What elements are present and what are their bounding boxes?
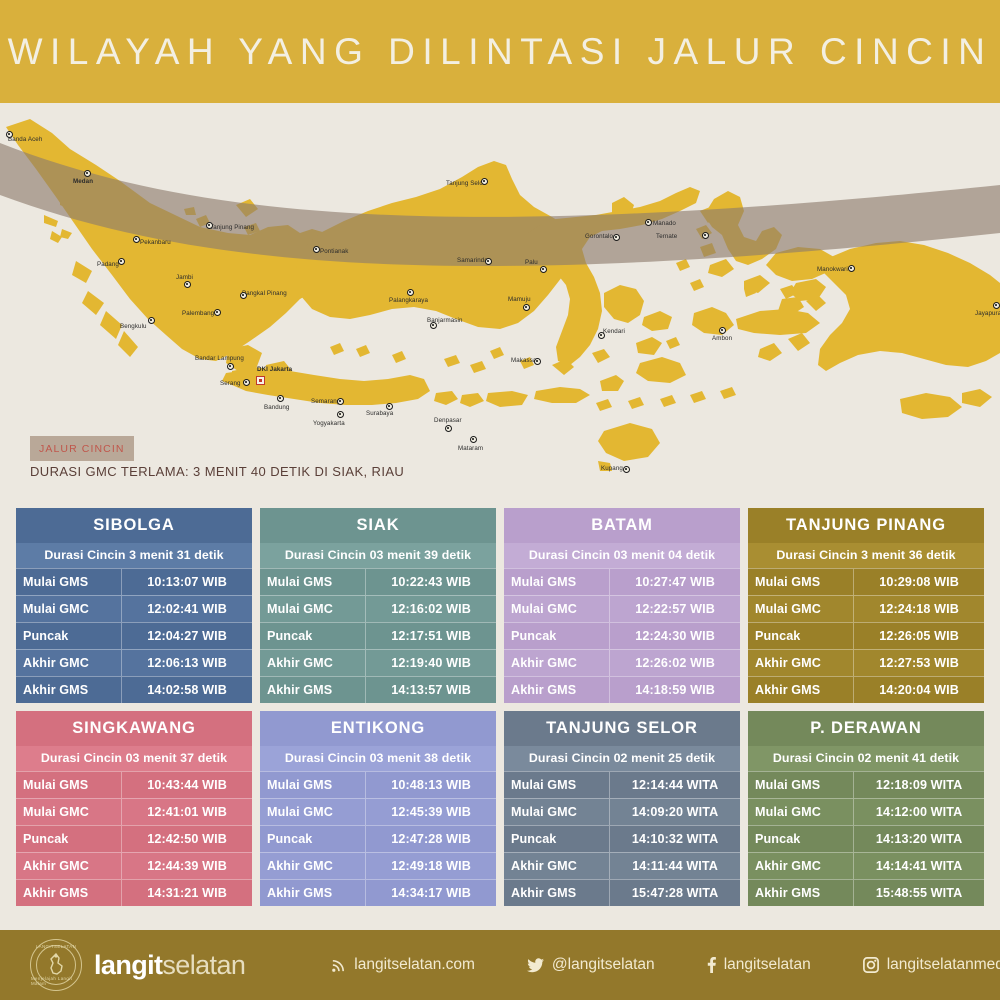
city-marker-icon bbox=[313, 246, 320, 253]
indonesia-map: Banda AcehMedanPekanbaruPadangJambiBengk… bbox=[0, 103, 1000, 493]
row-label: Akhir GMS bbox=[16, 880, 122, 906]
instagram-icon bbox=[863, 957, 879, 973]
table-row: Puncak12:47:28 WIB bbox=[260, 825, 496, 852]
row-label: Mulai GMC bbox=[748, 799, 854, 825]
city-marker-icon bbox=[240, 292, 247, 299]
brand-light: selatan bbox=[162, 950, 245, 980]
row-value: 12:22:57 WIB bbox=[610, 596, 740, 622]
city-marker-icon bbox=[277, 395, 284, 402]
table-row: Mulai GMC12:02:41 WIB bbox=[16, 595, 252, 622]
row-value: 12:26:05 WIB bbox=[854, 623, 984, 649]
table-row: Mulai GMC12:41:01 WIB bbox=[16, 798, 252, 825]
city-timing-card: SIAKDurasi Cincin 03 menit 39 detikMulai… bbox=[260, 508, 496, 703]
table-row: Mulai GMC14:09:20 WITA bbox=[504, 798, 740, 825]
table-row: Mulai GMC12:24:18 WIB bbox=[748, 595, 984, 622]
city-marker-icon bbox=[702, 232, 709, 239]
row-value: 14:34:17 WIB bbox=[366, 880, 496, 906]
city-marker-icon bbox=[534, 358, 541, 365]
row-label: Mulai GMC bbox=[504, 799, 610, 825]
row-label: Mulai GMS bbox=[260, 569, 366, 595]
row-label: Akhir GMS bbox=[260, 677, 366, 703]
city-label: Kupang bbox=[601, 465, 623, 472]
row-value: 10:22:43 WIB bbox=[366, 569, 496, 595]
table-row: Mulai GMS10:22:43 WIB bbox=[260, 568, 496, 595]
row-value: 12:47:28 WIB bbox=[366, 826, 496, 852]
row-value: 12:42:50 WIB bbox=[122, 826, 252, 852]
row-label: Mulai GMC bbox=[260, 799, 366, 825]
city-marker-icon bbox=[848, 265, 855, 272]
card-duration: Durasi Cincin 3 menit 36 detik bbox=[748, 543, 984, 568]
city-label: Padang bbox=[97, 261, 119, 268]
city-label: Pekanbaru bbox=[140, 239, 171, 246]
table-row: Akhir GMS15:48:55 WITA bbox=[748, 879, 984, 906]
table-row: Puncak14:13:20 WITA bbox=[748, 825, 984, 852]
table-row: Mulai GMC12:45:39 WIB bbox=[260, 798, 496, 825]
card-title: P. DERAWAN bbox=[748, 711, 984, 746]
city-marker-icon bbox=[430, 322, 437, 329]
city-label: Bengkulu bbox=[120, 323, 147, 330]
card-title: TANJUNG PINANG bbox=[748, 508, 984, 543]
row-label: Mulai GMS bbox=[16, 772, 122, 798]
social-link-rss[interactable]: langitselatan.com bbox=[331, 956, 475, 974]
row-value: 14:20:04 WIB bbox=[854, 677, 984, 703]
row-value: 12:06:13 WIB bbox=[122, 650, 252, 676]
social-label: @langitselatan bbox=[552, 956, 655, 974]
city-label: Denpasar bbox=[434, 417, 462, 424]
city-label: Bandar Lampung bbox=[195, 355, 244, 362]
table-row: Puncak14:10:32 WITA bbox=[504, 825, 740, 852]
row-label: Puncak bbox=[260, 826, 366, 852]
row-label: Mulai GMS bbox=[260, 772, 366, 798]
page-header: WILAYAH YANG DILINTASI JALUR CINCIN bbox=[0, 0, 1000, 103]
row-value: 12:44:39 WIB bbox=[122, 853, 252, 879]
row-label: Mulai GMS bbox=[504, 772, 610, 798]
city-marker-icon bbox=[184, 281, 191, 288]
city-label: Surabaya bbox=[366, 410, 393, 417]
map-landmasses bbox=[0, 119, 1000, 471]
table-row: Akhir GMC14:11:44 WITA bbox=[504, 852, 740, 879]
table-row: Mulai GMS10:27:47 WIB bbox=[504, 568, 740, 595]
table-row: Mulai GMS10:48:13 WIB bbox=[260, 771, 496, 798]
city-marker-icon bbox=[337, 398, 344, 405]
city-label: Ternate bbox=[656, 233, 677, 240]
table-row: Mulai GMC14:12:00 WITA bbox=[748, 798, 984, 825]
row-value: 10:48:13 WIB bbox=[366, 772, 496, 798]
row-value: 12:41:01 WIB bbox=[122, 799, 252, 825]
city-marker-icon bbox=[540, 266, 547, 273]
row-value: 12:19:40 WIB bbox=[366, 650, 496, 676]
infographic-page: WILAYAH YANG DILINTASI JALUR CINCIN bbox=[0, 0, 1000, 1000]
city-marker-icon bbox=[133, 236, 140, 243]
row-value: 14:31:21 WIB bbox=[122, 880, 252, 906]
capital-marker bbox=[256, 376, 265, 385]
card-duration: Durasi Cincin 02 menit 25 detik bbox=[504, 746, 740, 771]
row-value: 15:47:28 WITA bbox=[610, 880, 740, 906]
row-value: 15:48:55 WITA bbox=[854, 880, 984, 906]
city-label: Serang bbox=[220, 380, 241, 387]
row-label: Akhir GMC bbox=[260, 853, 366, 879]
city-timing-card: SINGKAWANGDurasi Cincin 03 menit 37 deti… bbox=[16, 711, 252, 906]
row-label: Akhir GMC bbox=[504, 650, 610, 676]
city-timing-card: TANJUNG SELORDurasi Cincin 02 menit 25 d… bbox=[504, 711, 740, 906]
city-timing-card: BATAMDurasi Cincin 03 menit 04 detikMula… bbox=[504, 508, 740, 703]
seal-bottom-text: Menjelajah Langit Malam bbox=[31, 976, 81, 986]
table-row: Akhir GMS14:31:21 WIB bbox=[16, 879, 252, 906]
table-row: Puncak12:42:50 WIB bbox=[16, 825, 252, 852]
row-label: Mulai GMS bbox=[16, 569, 122, 595]
city-label: Medan bbox=[73, 178, 93, 185]
table-row: Akhir GMS14:18:59 WIB bbox=[504, 676, 740, 703]
row-label: Akhir GMS bbox=[748, 880, 854, 906]
city-label: Banda Aceh bbox=[8, 136, 42, 143]
row-label: Mulai GMC bbox=[504, 596, 610, 622]
card-duration: Durasi Cincin 3 menit 31 detik bbox=[16, 543, 252, 568]
city-marker-icon bbox=[645, 219, 652, 226]
row-label: Puncak bbox=[260, 623, 366, 649]
card-title: SINGKAWANG bbox=[16, 711, 252, 746]
city-label: Mamuju bbox=[508, 296, 531, 303]
row-value: 12:14:44 WITA bbox=[610, 772, 740, 798]
horse-figure-icon bbox=[45, 952, 67, 978]
row-value: 14:09:20 WITA bbox=[610, 799, 740, 825]
city-marker-icon bbox=[445, 425, 452, 432]
row-label: Puncak bbox=[16, 623, 122, 649]
brand-bold: langit bbox=[94, 950, 162, 980]
map-svg bbox=[0, 103, 1000, 493]
row-label: Mulai GMC bbox=[16, 799, 122, 825]
row-label: Mulai GMC bbox=[260, 596, 366, 622]
row-label: Puncak bbox=[748, 623, 854, 649]
row-label: Akhir GMC bbox=[16, 650, 122, 676]
card-duration: Durasi Cincin 03 menit 37 detik bbox=[16, 746, 252, 771]
table-row: Akhir GMS14:20:04 WIB bbox=[748, 676, 984, 703]
table-row: Akhir GMS14:34:17 WIB bbox=[260, 879, 496, 906]
city-timing-card: ENTIKONGDurasi Cincin 03 menit 38 detikM… bbox=[260, 711, 496, 906]
table-row: Akhir GMC12:44:39 WIB bbox=[16, 852, 252, 879]
city-label: DKI Jakarta bbox=[257, 366, 292, 373]
city-marker-icon bbox=[481, 178, 488, 185]
map-caption: DURASI GMC TERLAMA: 3 MENIT 40 DETIK DI … bbox=[30, 464, 404, 479]
row-value: 14:10:32 WITA bbox=[610, 826, 740, 852]
city-timing-card: P. DERAWANDurasi Cincin 02 menit 41 deti… bbox=[748, 711, 984, 906]
row-label: Puncak bbox=[16, 826, 122, 852]
table-row: Akhir GMC14:14:41 WITA bbox=[748, 852, 984, 879]
row-label: Akhir GMC bbox=[260, 650, 366, 676]
city-timing-card: TANJUNG PINANGDurasi Cincin 3 menit 36 d… bbox=[748, 508, 984, 703]
social-label: langitselatan bbox=[724, 956, 811, 974]
card-title: BATAM bbox=[504, 508, 740, 543]
city-marker-icon bbox=[470, 436, 477, 443]
city-marker-icon bbox=[227, 363, 234, 370]
legend-label: JALUR CINCIN bbox=[39, 443, 125, 455]
social-link-instagram[interactable]: langitselatanmedia bbox=[863, 956, 1000, 974]
card-duration: Durasi Cincin 03 menit 39 detik bbox=[260, 543, 496, 568]
table-row: Mulai GMS10:13:07 WIB bbox=[16, 568, 252, 595]
row-value: 12:17:51 WIB bbox=[366, 623, 496, 649]
row-label: Akhir GMS bbox=[748, 677, 854, 703]
city-marker-icon bbox=[148, 317, 155, 324]
city-label: Manado bbox=[653, 220, 676, 227]
card-title: SIAK bbox=[260, 508, 496, 543]
city-label: Yogyakarta bbox=[313, 420, 345, 427]
social-link-facebook[interactable]: langitselatan bbox=[707, 956, 811, 974]
table-row: Akhir GMS14:13:57 WIB bbox=[260, 676, 496, 703]
row-label: Puncak bbox=[504, 623, 610, 649]
city-label: Manokwari bbox=[817, 266, 848, 273]
row-value: 12:24:18 WIB bbox=[854, 596, 984, 622]
city-marker-icon bbox=[386, 403, 393, 410]
city-timing-card: SIBOLGADurasi Cincin 3 menit 31 detikMul… bbox=[16, 508, 252, 703]
city-marker-icon bbox=[407, 289, 414, 296]
social-label: langitselatanmedia bbox=[887, 956, 1000, 974]
ring-path-legend: JALUR CINCIN bbox=[30, 436, 134, 461]
city-marker-icon bbox=[598, 332, 605, 339]
twitter-icon bbox=[527, 958, 544, 973]
card-duration: Durasi Cincin 03 menit 04 detik bbox=[504, 543, 740, 568]
city-label: Pangkal Pinang bbox=[242, 290, 287, 297]
row-value: 12:45:39 WIB bbox=[366, 799, 496, 825]
table-row: Akhir GMS15:47:28 WITA bbox=[504, 879, 740, 906]
row-label: Mulai GMC bbox=[16, 596, 122, 622]
row-value: 12:02:41 WIB bbox=[122, 596, 252, 622]
city-marker-icon bbox=[623, 466, 630, 473]
row-label: Puncak bbox=[504, 826, 610, 852]
row-value: 12:18:09 WITA bbox=[854, 772, 984, 798]
table-row: Mulai GMS12:18:09 WITA bbox=[748, 771, 984, 798]
row-label: Mulai GMS bbox=[504, 569, 610, 595]
card-title: ENTIKONG bbox=[260, 711, 496, 746]
row-value: 14:13:20 WITA bbox=[854, 826, 984, 852]
city-label: Bandung bbox=[264, 404, 289, 411]
card-title: TANJUNG SELOR bbox=[504, 711, 740, 746]
card-duration: Durasi Cincin 03 menit 38 detik bbox=[260, 746, 496, 771]
city-label: Pontianak bbox=[320, 248, 348, 255]
city-marker-icon bbox=[206, 222, 213, 229]
city-label: Samarinda bbox=[457, 257, 488, 264]
city-label: Palangkaraya bbox=[389, 297, 428, 304]
seal-top-text: LANGITSELATAN bbox=[36, 944, 76, 949]
page-title: WILAYAH YANG DILINTASI JALUR CINCIN bbox=[8, 31, 993, 73]
city-marker-icon bbox=[523, 304, 530, 311]
row-value: 12:04:27 WIB bbox=[122, 623, 252, 649]
table-row: Puncak12:17:51 WIB bbox=[260, 622, 496, 649]
row-value: 14:13:57 WIB bbox=[366, 677, 496, 703]
city-label: Palu bbox=[525, 259, 538, 266]
table-row: Mulai GMC12:16:02 WIB bbox=[260, 595, 496, 622]
city-label: Tanjung Pinang bbox=[210, 224, 254, 231]
row-value: 14:02:58 WIB bbox=[122, 677, 252, 703]
rss-icon bbox=[331, 958, 346, 973]
row-label: Akhir GMC bbox=[16, 853, 122, 879]
row-label: Akhir GMS bbox=[504, 880, 610, 906]
langitselatan-seal-logo: LANGITSELATAN Menjelajah Langit Malam bbox=[30, 939, 82, 991]
row-value: 12:27:53 WIB bbox=[854, 650, 984, 676]
facebook-icon bbox=[707, 957, 716, 973]
city-label: Semarang bbox=[311, 398, 340, 405]
city-label: Palembang bbox=[182, 310, 214, 317]
row-label: Akhir GMS bbox=[260, 880, 366, 906]
row-value: 12:49:18 WIB bbox=[366, 853, 496, 879]
row-value: 12:26:02 WIB bbox=[610, 650, 740, 676]
city-label: Gorontalo bbox=[585, 233, 613, 240]
city-label: Kendari bbox=[603, 328, 625, 335]
social-links: langitselatan.com@langitselatanlangitsel… bbox=[331, 956, 1000, 974]
city-label: Jambi bbox=[176, 274, 193, 281]
city-marker-icon bbox=[214, 309, 221, 316]
row-label: Akhir GMC bbox=[748, 853, 854, 879]
table-row: Akhir GMC12:26:02 WIB bbox=[504, 649, 740, 676]
table-row: Mulai GMS10:43:44 WIB bbox=[16, 771, 252, 798]
row-label: Mulai GMC bbox=[748, 596, 854, 622]
city-marker-icon bbox=[84, 170, 91, 177]
card-duration: Durasi Cincin 02 menit 41 detik bbox=[748, 746, 984, 771]
city-timing-cards: SIBOLGADurasi Cincin 3 menit 31 detikMul… bbox=[16, 508, 984, 906]
row-value: 14:14:41 WITA bbox=[854, 853, 984, 879]
city-label: Ambon bbox=[712, 335, 732, 342]
table-row: Akhir GMC12:06:13 WIB bbox=[16, 649, 252, 676]
row-value: 12:24:30 WIB bbox=[610, 623, 740, 649]
row-value: 10:29:08 WIB bbox=[854, 569, 984, 595]
city-marker-icon bbox=[337, 411, 344, 418]
city-marker-icon bbox=[613, 234, 620, 241]
row-value: 10:13:07 WIB bbox=[122, 569, 252, 595]
city-label: Mataram bbox=[458, 445, 483, 452]
table-row: Mulai GMC12:22:57 WIB bbox=[504, 595, 740, 622]
social-link-twitter[interactable]: @langitselatan bbox=[527, 956, 655, 974]
city-marker-icon bbox=[6, 131, 13, 138]
row-label: Puncak bbox=[748, 826, 854, 852]
row-label: Mulai GMS bbox=[748, 772, 854, 798]
table-row: Akhir GMC12:49:18 WIB bbox=[260, 852, 496, 879]
city-marker-icon bbox=[993, 302, 1000, 309]
table-row: Puncak12:04:27 WIB bbox=[16, 622, 252, 649]
city-marker-icon bbox=[719, 327, 726, 334]
brand-wordmark: langitselatan bbox=[94, 950, 245, 981]
row-label: Akhir GMC bbox=[504, 853, 610, 879]
row-value: 14:18:59 WIB bbox=[610, 677, 740, 703]
page-footer: LANGITSELATAN Menjelajah Langit Malam la… bbox=[0, 930, 1000, 1000]
city-marker-icon bbox=[243, 379, 250, 386]
table-row: Akhir GMC12:19:40 WIB bbox=[260, 649, 496, 676]
table-row: Mulai GMS10:29:08 WIB bbox=[748, 568, 984, 595]
city-label: Tanjung Selor bbox=[446, 180, 485, 187]
row-value: 14:12:00 WITA bbox=[854, 799, 984, 825]
row-value: 10:43:44 WIB bbox=[122, 772, 252, 798]
table-row: Puncak12:24:30 WIB bbox=[504, 622, 740, 649]
row-value: 10:27:47 WIB bbox=[610, 569, 740, 595]
city-label: Jayapura bbox=[975, 310, 1000, 317]
row-value: 14:11:44 WITA bbox=[610, 853, 740, 879]
table-row: Mulai GMS12:14:44 WITA bbox=[504, 771, 740, 798]
row-label: Akhir GMC bbox=[748, 650, 854, 676]
table-row: Akhir GMC12:27:53 WIB bbox=[748, 649, 984, 676]
city-marker-icon bbox=[118, 258, 125, 265]
city-marker-icon bbox=[485, 258, 492, 265]
row-label: Akhir GMS bbox=[504, 677, 610, 703]
table-row: Puncak12:26:05 WIB bbox=[748, 622, 984, 649]
social-label: langitselatan.com bbox=[354, 956, 475, 974]
card-title: SIBOLGA bbox=[16, 508, 252, 543]
row-label: Akhir GMS bbox=[16, 677, 122, 703]
table-row: Akhir GMS14:02:58 WIB bbox=[16, 676, 252, 703]
row-label: Mulai GMS bbox=[748, 569, 854, 595]
row-value: 12:16:02 WIB bbox=[366, 596, 496, 622]
